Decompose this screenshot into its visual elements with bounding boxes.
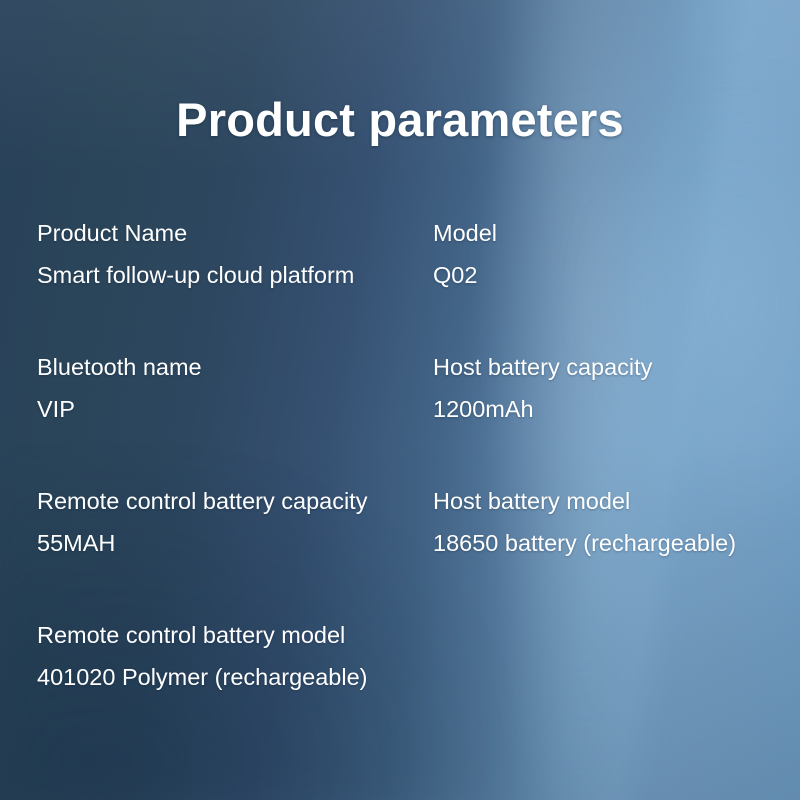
spec-label: Host battery capacity [433,346,777,388]
poster-content: Product parameters Product Name Smart fo… [0,0,800,800]
spec-cell-right: Host battery model 18650 battery (rechar… [433,480,777,564]
spec-label: Remote control battery capacity [37,480,433,522]
spec-value: 1200mAh [433,388,777,430]
spec-value: 55MAH [37,522,433,564]
spec-label: Product Name [37,212,433,254]
page-title: Product parameters [0,92,800,147]
spec-row: Product Name Smart follow-up cloud platf… [37,212,777,296]
spec-row: Bluetooth name VIP Host battery capacity… [37,346,777,430]
spec-value: VIP [37,388,433,430]
spec-label: Host battery model [433,480,777,522]
spec-cell-left: Product Name Smart follow-up cloud platf… [37,212,433,296]
spec-row: Remote control battery model 401020 Poly… [37,614,777,698]
spec-value: Q02 [433,254,777,296]
spec-cell-left: Remote control battery model 401020 Poly… [37,614,433,698]
spec-row: Remote control battery capacity 55MAH Ho… [37,480,777,564]
spec-label: Bluetooth name [37,346,433,388]
specification-grid: Product Name Smart follow-up cloud platf… [37,212,777,698]
spec-cell-right: Model Q02 [433,212,777,296]
spec-cell-left: Remote control battery capacity 55MAH [37,480,433,564]
spec-value: Smart follow-up cloud platform [37,254,433,296]
spec-value: 401020 Polymer (rechargeable) [37,656,433,698]
spec-label: Remote control battery model [37,614,433,656]
spec-cell-right: Host battery capacity 1200mAh [433,346,777,430]
product-parameters-poster: Product parameters Product Name Smart fo… [0,0,800,800]
spec-value: 18650 battery (rechargeable) [433,522,777,564]
spec-label: Model [433,212,777,254]
spec-cell-left: Bluetooth name VIP [37,346,433,430]
